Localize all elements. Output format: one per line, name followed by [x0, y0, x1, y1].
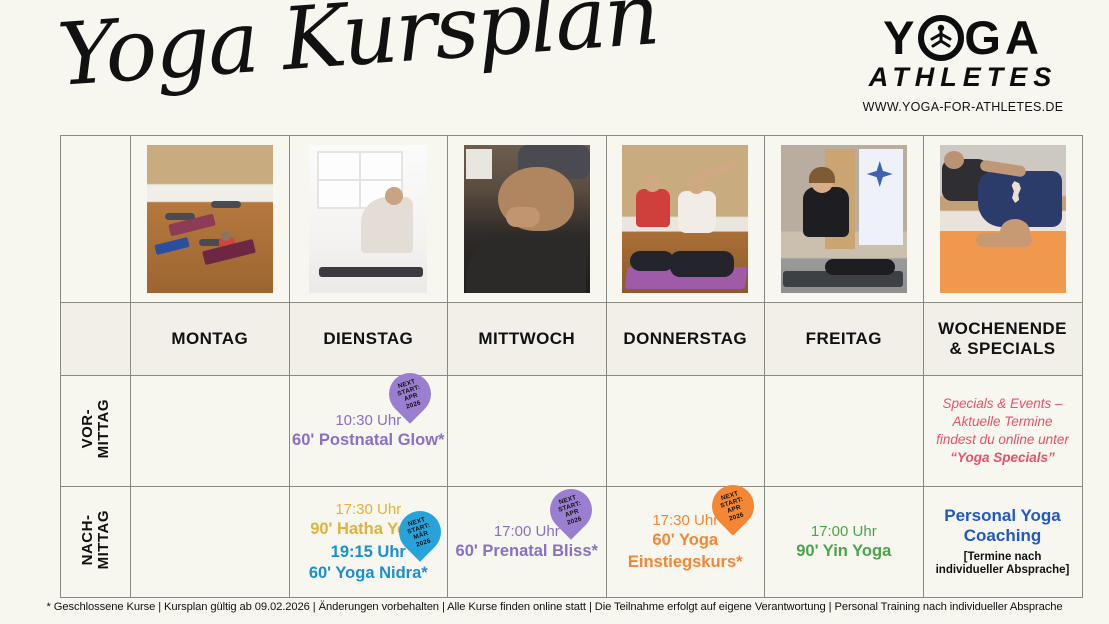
class-name-line1: 60' Yoga: [607, 530, 765, 551]
photo-cell-freitag: [765, 136, 924, 303]
badge-text: NEXTSTART:APR2026: [555, 493, 586, 528]
photo-stretch-by-window: [309, 145, 427, 293]
coaching-note-line2: individueller Absprache]: [936, 564, 1070, 576]
page-title: Yoga Kursplan: [55, 0, 661, 106]
photo-cell-montag: [131, 136, 290, 303]
coaching-line1: Personal Yoga: [944, 506, 1061, 525]
class-time: 17:00 Uhr: [765, 522, 923, 541]
row-label-nachmittag: NACH-MITTAG: [61, 487, 131, 598]
photo-row-corner: [61, 136, 131, 303]
slot-donnerstag-vormittag[interactable]: [606, 376, 765, 487]
photo-teacher-assist-duo: [622, 145, 748, 293]
slot-mittwoch-nachmittag[interactable]: 17:00 Uhr 60' Prenatal Bliss* NEXTSTART:…: [448, 487, 607, 598]
logo-subtitle: ATHLETES: [843, 64, 1083, 91]
brand-logo: Y GA ATHLETES WWW.YOGA-FOR-ATHLETES.DE: [843, 14, 1083, 114]
slot-dienstag-vormittag[interactable]: 10:30 Uhr 60' Postnatal Glow* NEXTSTART:…: [289, 376, 448, 487]
photo-hands-on-adjust: [940, 145, 1066, 293]
class-name-line2: Einstiegskurs*: [607, 552, 765, 573]
photo-yoga-class-room: [147, 145, 273, 293]
slot-freitag-vormittag[interactable]: [765, 376, 924, 487]
afternoon-row: NACH-MITTAG 17:30 Uhr 90' Hatha Yoga 19:…: [61, 487, 1083, 598]
badge-text: NEXTSTART:APR2026: [394, 377, 425, 412]
day-label-mittwoch: MITTWOCH: [448, 329, 606, 349]
day-label-dienstag: DIENSTAG: [290, 329, 448, 349]
class-postnatal-glow[interactable]: 10:30 Uhr 60' Postnatal Glow*: [290, 411, 448, 451]
day-label-freitag: FREITAG: [765, 329, 923, 349]
day-header-wochenende: WOCHENENDE & SPECIALS: [923, 303, 1082, 376]
photo-cell-dienstag: [289, 136, 448, 303]
class-time: 10:30 Uhr: [290, 411, 448, 430]
day-label-donnerstag: DONNERSTAG: [607, 329, 765, 349]
class-name: 60' Postnatal Glow*: [290, 430, 448, 451]
wochenende-line2: & SPECIALS: [949, 339, 1055, 358]
coaching-note-line1: [Termine nach: [964, 551, 1042, 563]
morning-row: VOR-MITTAG 10:30 Uhr 60' Postnatal Glow*…: [61, 376, 1083, 487]
badge-text: NEXTSTART:APR2026: [717, 489, 748, 524]
photo-cell-mittwoch: [448, 136, 607, 303]
slot-donnerstag-nachmittag[interactable]: 17:30 Uhr 60' Yoga Einstiegskurs* NEXTST…: [606, 487, 765, 598]
slot-wochenende-nachmittag[interactable]: Personal Yoga Coaching [Termine nach ind…: [923, 487, 1082, 598]
day-header-dienstag: DIENSTAG: [289, 303, 448, 376]
personal-coaching-title: Personal Yoga Coaching: [924, 506, 1082, 547]
row-label-vormittag: VOR-MITTAG: [61, 376, 131, 487]
photo-teacher-seated-stretch: [781, 145, 907, 293]
day-header-montag: MONTAG: [131, 303, 290, 376]
photo-row: [61, 136, 1083, 303]
day-label-montag: MONTAG: [131, 329, 289, 349]
logo-letters-ga: GA: [964, 14, 1043, 61]
kursplan-page: Yoga Kursplan Y GA ATHLETES WWW.YOGA-FOR…: [0, 0, 1109, 624]
specials-note: Specials & Events – Aktuelle Termine fin…: [924, 395, 1082, 468]
personal-coaching-note: [Termine nach individueller Absprache]: [924, 551, 1082, 579]
slot-mittwoch-vormittag[interactable]: [448, 376, 607, 487]
footer-disclaimer: * Geschlossene Kurse | Kursplan gültig a…: [0, 601, 1109, 613]
day-header-mittwoch: MITTWOCH: [448, 303, 607, 376]
photo-pregnant-belly: [464, 145, 590, 293]
specials-line3: findest du online unter: [936, 432, 1069, 447]
yoga-figure-icon: [918, 15, 964, 61]
class-name: 60' Prenatal Bliss*: [448, 541, 606, 562]
slot-dienstag-nachmittag[interactable]: 17:30 Uhr 90' Hatha Yoga 19:15 Uhr 60' Y…: [289, 487, 448, 598]
day-label-wochenende: WOCHENENDE & SPECIALS: [924, 319, 1082, 358]
wochenende-line1: WOCHENENDE: [938, 319, 1067, 338]
nachmittag-text: NACH-MITTAG: [80, 510, 112, 569]
logo-letter-y: Y: [883, 14, 918, 61]
class-name: 90' Yin Yoga: [765, 541, 923, 562]
slot-wochenende-vormittag[interactable]: Specials & Events – Aktuelle Termine fin…: [923, 376, 1082, 487]
day-header-corner: [61, 303, 131, 376]
slot-montag-vormittag[interactable]: [131, 376, 290, 487]
logo-website-url: WWW.YOGA-FOR-ATHLETES.DE: [843, 100, 1083, 114]
photo-cell-wochenende: [923, 136, 1082, 303]
coaching-line2: Coaching: [964, 526, 1041, 545]
schedule-table: MONTAG DIENSTAG MITTWOCH DONNERSTAG FREI…: [60, 135, 1083, 598]
vormittag-text: VOR-MITTAG: [80, 399, 112, 458]
slot-freitag-nachmittag[interactable]: 17:00 Uhr 90' Yin Yoga: [765, 487, 924, 598]
photo-cell-donnerstag: [606, 136, 765, 303]
day-header-donnerstag: DONNERSTAG: [606, 303, 765, 376]
logo-wordmark: Y GA: [843, 14, 1083, 61]
class-yin-yoga[interactable]: 17:00 Uhr 90' Yin Yoga: [765, 522, 923, 562]
specials-line1: Specials & Events –: [942, 396, 1062, 411]
day-header-freitag: FREITAG: [765, 303, 924, 376]
class-name: 60' Yoga Nidra*: [290, 563, 448, 584]
badge-text: NEXTSTART:MÄR2026: [404, 515, 435, 550]
specials-line2: Aktuelle Termine: [952, 414, 1052, 429]
specials-link-label[interactable]: “Yoga Specials”: [950, 450, 1055, 465]
day-header-row: MONTAG DIENSTAG MITTWOCH DONNERSTAG FREI…: [61, 303, 1083, 376]
slot-montag-nachmittag[interactable]: [131, 487, 290, 598]
